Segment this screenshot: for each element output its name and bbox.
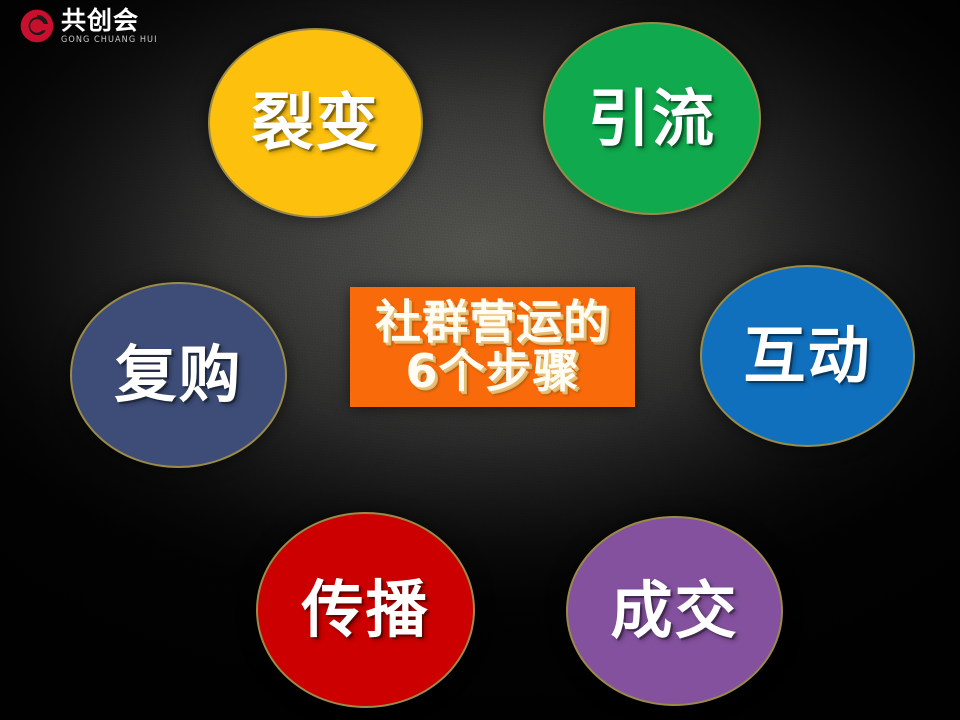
logo-wordmark: 共创会 GONG CHUANG HUI xyxy=(61,8,162,45)
brand-logo: 共创会 GONG CHUANG HUI xyxy=(20,8,162,45)
center-title-box: 社群营运的 6个步骤 xyxy=(350,287,635,407)
slide-canvas: 共创会 GONG CHUANG HUI 裂变 引流 互动 成交 传播 复购 社群… xyxy=(0,0,960,720)
center-title-line-2: 6个步骤 xyxy=(405,348,579,395)
step-node-hudong[interactable]: 互动 xyxy=(700,265,915,447)
step-node-liebian[interactable]: 裂变 xyxy=(208,28,423,218)
step-label: 传播 xyxy=(301,579,429,641)
step-node-yinliu[interactable]: 引流 xyxy=(543,22,761,215)
logo-circle-g-icon xyxy=(20,9,54,43)
step-label: 互动 xyxy=(743,325,871,387)
step-label: 裂变 xyxy=(251,92,379,154)
logo-name-cn: 共创会 xyxy=(61,8,162,34)
center-title-line-1: 社群营运的 xyxy=(375,299,610,346)
step-node-fugou[interactable]: 复购 xyxy=(70,282,287,468)
step-label: 成交 xyxy=(610,580,738,642)
step-node-chengjiao[interactable]: 成交 xyxy=(566,516,783,706)
step-label: 引流 xyxy=(588,88,716,150)
step-node-chuanbo[interactable]: 传播 xyxy=(256,512,475,708)
step-label: 复购 xyxy=(114,344,242,406)
logo-name-en: GONG CHUANG HUI xyxy=(61,36,158,45)
